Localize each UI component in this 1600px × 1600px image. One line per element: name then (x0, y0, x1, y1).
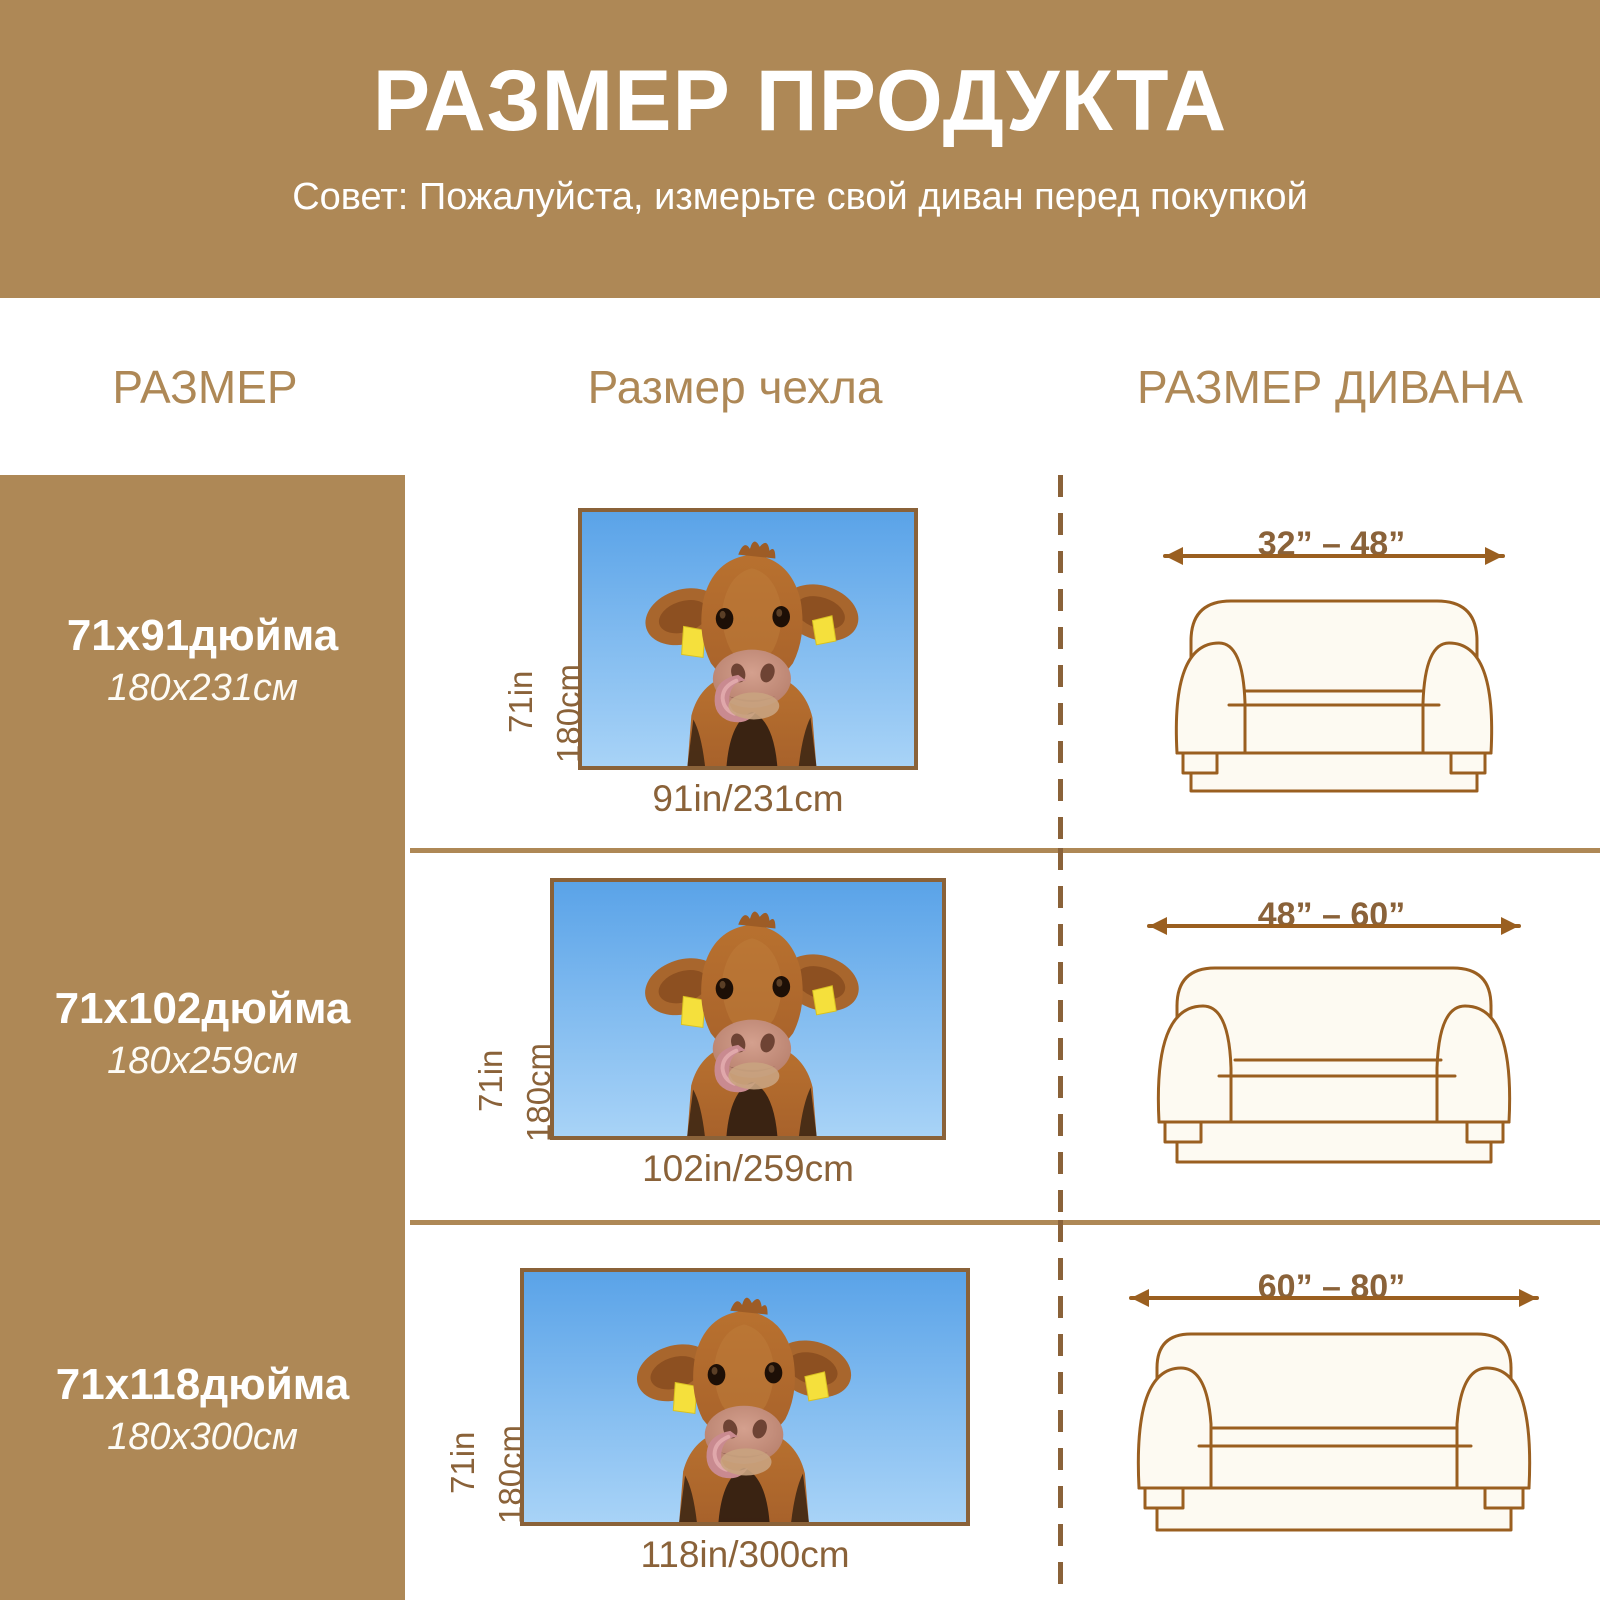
sofa-diagram (1125, 1256, 1543, 1556)
cover-photo (520, 1268, 970, 1526)
table-body: 71x91дюйма 180x231см 71in 180cm (0, 475, 1600, 1600)
size-inches-label: 71x118дюйма (56, 1360, 349, 1409)
size-inches-label: 71x102дюйма (55, 984, 351, 1033)
table-row: 71x118дюйма 180x300см 71in 180cm (0, 1220, 1600, 1600)
page-title: РАЗМЕР ПРОДУКТА (373, 58, 1228, 144)
cover-height-inches-label: 71in (444, 1432, 484, 1494)
page-header: РАЗМЕР ПРОДУКТА Совет: Пожалуйста, измер… (0, 0, 1600, 298)
column-header-size: РАЗМЕР (0, 298, 410, 475)
sofa-size-cell: 32” – 48” (1063, 475, 1600, 848)
cover-height-inches-label: 71in (502, 671, 542, 733)
page-subtitle: Совет: Пожалуйста, измерьте свой диван п… (292, 176, 1308, 219)
column-header-sofa-size: РАЗМЕР ДИВАНА (1060, 298, 1600, 475)
armchair-diagram (1159, 513, 1509, 813)
cow-image (554, 882, 942, 1136)
size-inches-label: 71x91дюйма (67, 611, 338, 660)
size-cm-label: 180x259см (107, 1039, 298, 1085)
product-size-chart: РАЗМЕР ПРОДУКТА Совет: Пожалуйста, измер… (0, 0, 1600, 1600)
size-cm-label: 180x231см (107, 666, 298, 712)
cover-width-caption: 91in/231cm (578, 778, 918, 820)
sofa-size-cell: 60” – 80” (1063, 1220, 1600, 1600)
cover-size-cell: 71in 180cm (410, 848, 1058, 1220)
cow-image (582, 512, 914, 766)
sofa-size-cell: 48” – 60” (1063, 848, 1600, 1220)
table-row: 71x91дюйма 180x231см 71in 180cm (0, 475, 1600, 848)
cover-size-cell: 71in 180cm (410, 1220, 1058, 1600)
loveseat-diagram (1143, 884, 1525, 1184)
size-cell: 71x102дюйма 180x259см (0, 848, 405, 1220)
table-row: 71x102дюйма 180x259см 71in 180cm (0, 848, 1600, 1220)
size-cm-label: 180x300см (107, 1415, 298, 1461)
cover-photo (578, 508, 918, 770)
cover-width-caption: 118in/300cm (520, 1534, 970, 1576)
cover-width-caption: 102in/259cm (550, 1148, 946, 1190)
cover-height-inches-label: 71in (472, 1050, 512, 1112)
table-column-headers: РАЗМЕР Размер чехла РАЗМЕР ДИВАНА (0, 298, 1600, 475)
size-cell: 71x118дюйма 180x300см (0, 1220, 405, 1600)
column-header-cover-size: Размер чехла (410, 298, 1060, 475)
cover-photo (550, 878, 946, 1140)
cover-size-cell: 71in 180cm (410, 475, 1058, 848)
size-cell: 71x91дюйма 180x231см (0, 475, 405, 848)
cow-image (524, 1272, 966, 1522)
